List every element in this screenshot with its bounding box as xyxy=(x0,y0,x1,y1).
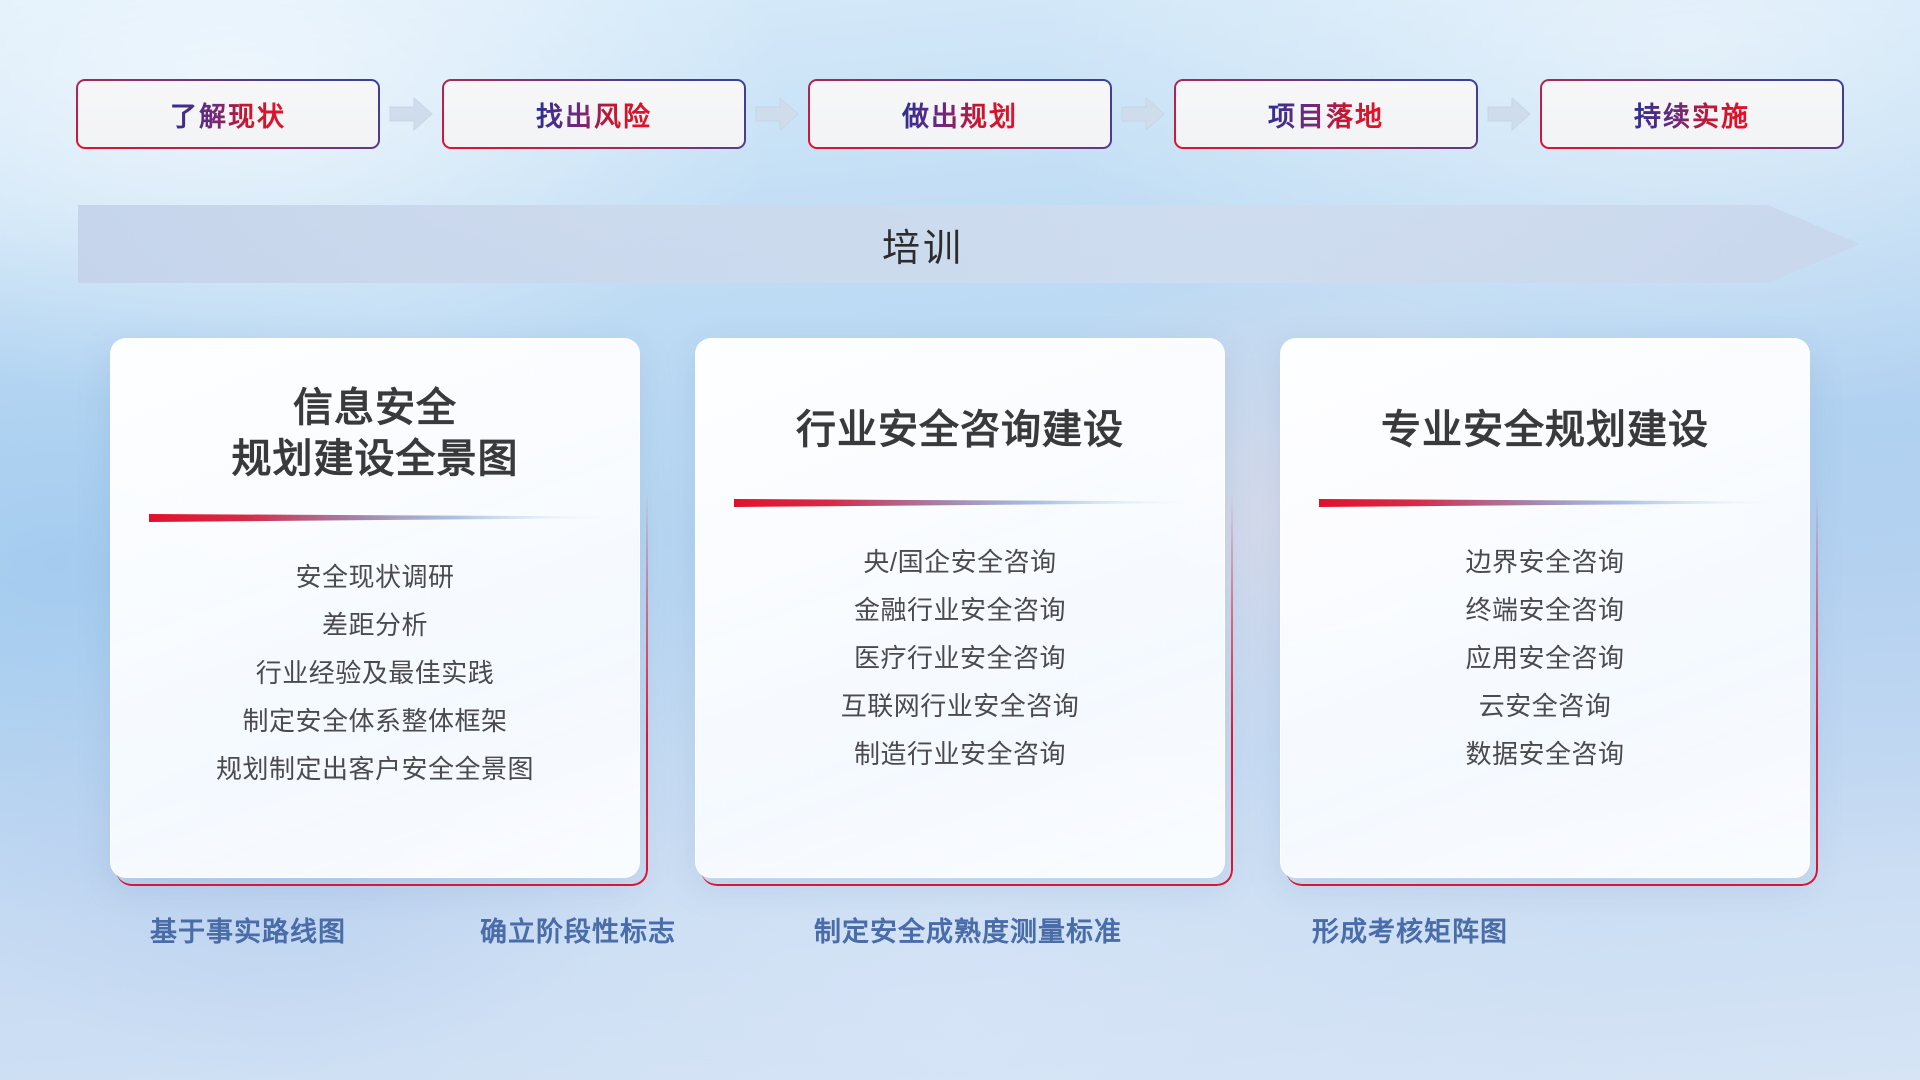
card-1-title-line-1: 信息安全 xyxy=(293,386,457,430)
step-arrow-4 xyxy=(1486,95,1532,133)
arrow-right-icon xyxy=(1120,95,1166,133)
step-inner-5: 持续实施 xyxy=(1542,81,1842,147)
banner-label: 培训 xyxy=(78,205,1768,283)
process-step-row: 了解现状 找出风险 做出规划 项目落地 持续实施 xyxy=(0,78,1920,150)
step-box-3[interactable]: 做出规划 xyxy=(808,79,1112,149)
card-3-list-item: 应用安全咨询 xyxy=(1305,634,1785,682)
card-1-list-item: 行业经验及最佳实践 xyxy=(135,649,615,697)
gradient-divider-icon xyxy=(149,511,601,525)
card-2-list-item: 医疗行业安全咨询 xyxy=(720,634,1200,682)
gradient-divider-icon xyxy=(734,496,1186,510)
arrow-right-icon xyxy=(754,95,800,133)
step-label-5: 持续实施 xyxy=(1634,95,1750,134)
footer-label-2: 确立阶段性标志 xyxy=(480,910,676,949)
card-3-list-item: 数据安全咨询 xyxy=(1305,730,1785,778)
card-2-body: 行业安全咨询建设 xyxy=(695,338,1225,878)
training-banner: 培训 xyxy=(78,205,1860,283)
footer-label-4: 形成考核矩阵图 xyxy=(1312,910,1508,949)
footer-label-1: 基于事实路线图 xyxy=(150,910,346,949)
step-label-2: 找出风险 xyxy=(536,95,652,134)
card-1-list: 安全现状调研差距分析行业经验及最佳实践制定安全体系整体框架规划制定出客户安全全景… xyxy=(111,525,639,793)
card-1-list-item: 差距分析 xyxy=(135,601,615,649)
card-3-title: 专业安全规划建设 xyxy=(1281,339,1809,456)
step-arrow-3 xyxy=(1120,95,1166,133)
card-2-list-item: 制造行业安全咨询 xyxy=(720,730,1200,778)
footer-label-3: 制定安全成熟度测量标准 xyxy=(814,910,1122,949)
card-2-list-item: 金融行业安全咨询 xyxy=(720,586,1200,634)
card-3-title-line-1: 专业安全规划建设 xyxy=(1381,408,1709,452)
card-1-list-item: 安全现状调研 xyxy=(135,553,615,601)
step-arrow-2 xyxy=(754,95,800,133)
card-1-list-item: 制定安全体系整体框架 xyxy=(135,697,615,745)
step-arrow-1 xyxy=(388,95,434,133)
step-box-1[interactable]: 了解现状 xyxy=(76,79,380,149)
step-inner-4: 项目落地 xyxy=(1176,81,1476,147)
card-2[interactable]: 行业安全咨询建设 xyxy=(695,338,1225,878)
card-3-body: 专业安全规划建设 xyxy=(1280,338,1810,878)
card-1-title-line-2: 规划建设全景图 xyxy=(232,437,519,481)
card-3[interactable]: 专业安全规划建设 xyxy=(1280,338,1810,878)
step-label-3: 做出规划 xyxy=(902,95,1018,134)
card-row: 信息安全规划建设全景图 xyxy=(110,338,1810,878)
card-1-list-item: 规划制定出客户安全全景图 xyxy=(135,745,615,793)
footer-label-row: 基于事实路线图确立阶段性标志制定安全成熟度测量标准形成考核矩阵图 xyxy=(0,910,1920,962)
card-2-title-line-1: 行业安全咨询建设 xyxy=(796,408,1124,452)
step-label-1: 了解现状 xyxy=(170,95,286,134)
arrow-right-icon xyxy=(1486,95,1532,133)
slide-canvas: 了解现状 找出风险 做出规划 项目落地 持续实施 xyxy=(0,0,1920,1080)
card-2-list: 央/国企安全咨询金融行业安全咨询医疗行业安全咨询互联网行业安全咨询制造行业安全咨… xyxy=(696,510,1224,778)
step-box-5[interactable]: 持续实施 xyxy=(1540,79,1844,149)
step-box-4[interactable]: 项目落地 xyxy=(1174,79,1478,149)
step-box-2[interactable]: 找出风险 xyxy=(442,79,746,149)
card-2-list-item: 央/国企安全咨询 xyxy=(720,538,1200,586)
card-3-list: 边界安全咨询终端安全咨询应用安全咨询云安全咨询数据安全咨询 xyxy=(1281,510,1809,778)
card-2-list-item: 互联网行业安全咨询 xyxy=(720,682,1200,730)
step-label-4: 项目落地 xyxy=(1268,95,1384,134)
arrow-right-icon xyxy=(388,95,434,133)
card-1-body: 信息安全规划建设全景图 xyxy=(110,338,640,878)
step-inner-2: 找出风险 xyxy=(444,81,744,147)
card-3-list-item: 终端安全咨询 xyxy=(1305,586,1785,634)
step-inner-3: 做出规划 xyxy=(810,81,1110,147)
card-1[interactable]: 信息安全规划建设全景图 xyxy=(110,338,640,878)
step-inner-1: 了解现状 xyxy=(78,81,378,147)
gradient-divider-icon xyxy=(1319,496,1771,510)
card-2-title: 行业安全咨询建设 xyxy=(696,339,1224,456)
card-1-title: 信息安全规划建设全景图 xyxy=(111,339,639,485)
card-3-list-item: 云安全咨询 xyxy=(1305,682,1785,730)
card-3-list-item: 边界安全咨询 xyxy=(1305,538,1785,586)
